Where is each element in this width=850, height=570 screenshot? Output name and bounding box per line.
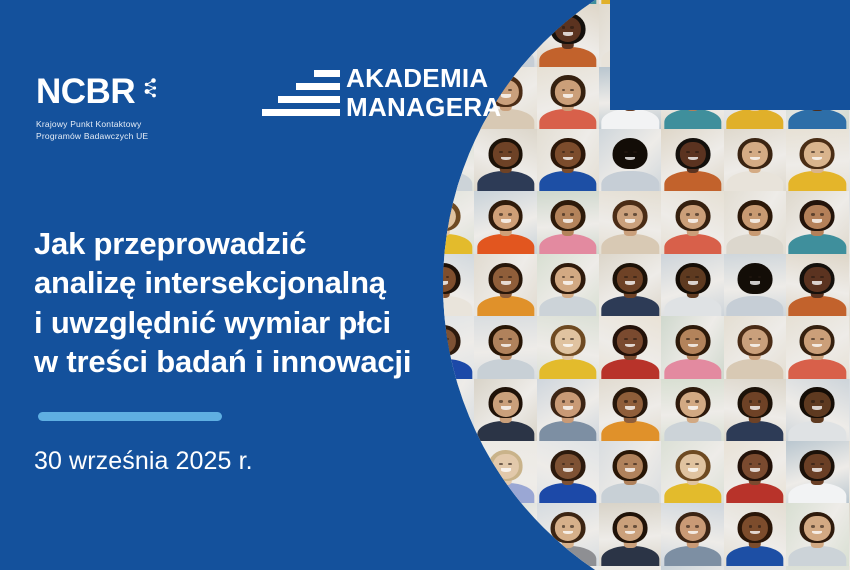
collage-tile [599, 441, 661, 503]
collage-tile [786, 316, 848, 378]
collage-tile [537, 254, 599, 316]
collage-tile [599, 503, 661, 565]
collage-tile [537, 379, 599, 441]
collage-tile [599, 316, 661, 378]
page-title: Jak przeprowadzić analizę intersekcjonal… [34, 224, 454, 381]
collage-tile [599, 67, 661, 129]
collage-tile [599, 379, 661, 441]
ncbr-tagline: Krajowy Punkt Kontaktowy Programów Badaw… [36, 118, 160, 143]
collage-tile [724, 379, 786, 441]
collage-tile [786, 379, 848, 441]
headline-line-1: Jak przeprowadzić [34, 224, 454, 263]
content-column: NCBR Krajowy Punkt Kontaktowy Programów … [0, 0, 460, 570]
collage-tile [724, 316, 786, 378]
collage-tile [537, 566, 599, 570]
collage-tile [661, 316, 723, 378]
collage-tile [661, 129, 723, 191]
ncbr-logo: NCBR Krajowy Punkt Kontaktowy Programów … [36, 74, 160, 143]
collage-tile [474, 4, 536, 66]
collage-tile [724, 191, 786, 253]
collage-tile [474, 503, 536, 565]
collage-tile [599, 191, 661, 253]
collage-tile [661, 566, 723, 570]
collage-tile [661, 254, 723, 316]
akademia-line1: AKADEMIA [346, 64, 502, 93]
collage-tile [661, 4, 723, 66]
collage-tile [537, 441, 599, 503]
collage-tile [661, 441, 723, 503]
akademia-wordmark: AKADEMIA MANAGERA [346, 64, 502, 122]
collage-tile [786, 191, 848, 253]
ncbr-wordmark: NCBR [36, 74, 135, 109]
collage-tile [474, 191, 536, 253]
collage-tile [786, 566, 848, 570]
collage-tile [786, 254, 848, 316]
event-date: 30 września 2025 r. [34, 447, 253, 476]
collage-tile [599, 4, 661, 66]
collage-tile [786, 67, 848, 129]
collage-tile [661, 379, 723, 441]
collage-tile [537, 503, 599, 565]
headline-line-2: analizę intersekcjonalną [34, 263, 454, 302]
collage-tile [661, 67, 723, 129]
headline-line-4: w treści badań i innowacji [34, 342, 454, 381]
collage-tile [599, 129, 661, 191]
ncbr-tagline-line1: Krajowy Punkt Kontaktowy [36, 118, 160, 130]
collage-tile [474, 566, 536, 570]
stacked-bars-icon [262, 64, 340, 122]
collage-tile [474, 441, 536, 503]
collage-grid [443, 0, 850, 570]
ncbr-tagline-line2: Programów Badawczych UE [36, 130, 160, 142]
collage-tile [474, 316, 536, 378]
akademia-managera-logo: AKADEMIA MANAGERA [262, 64, 502, 122]
collage-tile [724, 566, 786, 570]
collage-tile [537, 67, 599, 129]
collage-tile [786, 4, 848, 66]
collage-tile [724, 441, 786, 503]
collage-tile [537, 191, 599, 253]
collage-tile [724, 129, 786, 191]
accent-divider [38, 412, 222, 421]
collage-tile [724, 503, 786, 565]
collage-tile [537, 4, 599, 66]
portrait-collage [443, 0, 850, 570]
collage-tile [724, 254, 786, 316]
collage-tile [661, 191, 723, 253]
node-dots-icon [140, 76, 160, 107]
collage-tile [474, 379, 536, 441]
collage-tile [474, 129, 536, 191]
collage-tile [661, 503, 723, 565]
headline-line-3: i uwzględnić wymiar płci [34, 303, 454, 342]
collage-tile [786, 129, 848, 191]
akademia-line2: MANAGERA [346, 93, 502, 122]
collage-tile [786, 503, 848, 565]
collage-tile [786, 441, 848, 503]
collage-tile [724, 4, 786, 66]
collage-tile [537, 129, 599, 191]
collage-tile [599, 566, 661, 570]
collage-tile [474, 254, 536, 316]
collage-tile [537, 316, 599, 378]
collage-tile [599, 254, 661, 316]
collage-tile [724, 67, 786, 129]
event-banner: NCBR Krajowy Punkt Kontaktowy Programów … [0, 0, 850, 570]
